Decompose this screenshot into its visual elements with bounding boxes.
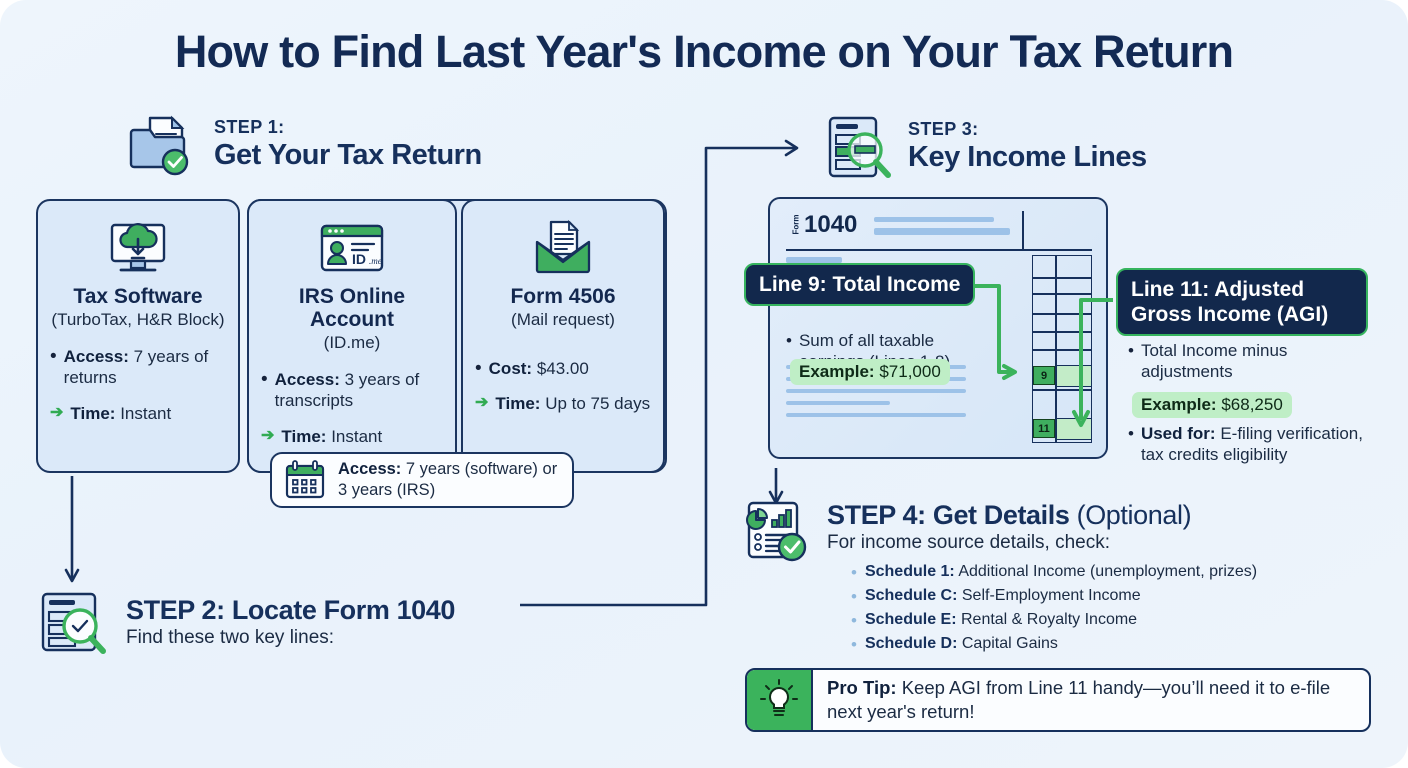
- schedule-list: Schedule 1: Additional Income (unemploym…: [851, 561, 1257, 658]
- pro-tip-box: Pro Tip: Keep AGI from Line 11 handy—you…: [745, 668, 1371, 732]
- line11-details: • Total Income minus adjustments: [1128, 340, 1370, 388]
- list-item: Schedule E: Rental & Royalty Income: [851, 609, 1257, 633]
- line11-example-pill: Example: $68,250: [1132, 392, 1292, 418]
- step4-block: STEP 4: Get Details (Optional) For incom…: [745, 500, 1257, 658]
- line11-callout[interactable]: Line 11: Adjusted Gross Income (AGI): [1116, 268, 1368, 336]
- step4-subtitle: For income source details, check:: [827, 532, 1257, 554]
- lightbulb-icon: [747, 670, 813, 730]
- pro-tip-text: Pro Tip: Keep AGI from Line 11 handy—you…: [813, 670, 1369, 730]
- line9-example-pill: Example: $71,000: [790, 359, 950, 385]
- infographic-canvas: How to Find Last Year's Income on Your T…: [0, 0, 1408, 768]
- line9-callout[interactable]: Line 9: Total Income: [744, 263, 975, 306]
- line11-usedfor: • Used for: E-filing verification, tax c…: [1128, 423, 1376, 471]
- step4-title: STEP 4: Get Details (Optional): [827, 500, 1257, 531]
- line11-bullet: • Total Income minus adjustments: [1128, 340, 1370, 383]
- list-item: Schedule C: Self-Employment Income: [851, 585, 1257, 609]
- step4-optional: (Optional): [1077, 500, 1192, 530]
- list-item: Schedule 1: Additional Income (unemploym…: [851, 561, 1257, 585]
- chart-report-check-icon: [745, 500, 813, 658]
- list-item: Schedule D: Capital Gains: [851, 633, 1257, 657]
